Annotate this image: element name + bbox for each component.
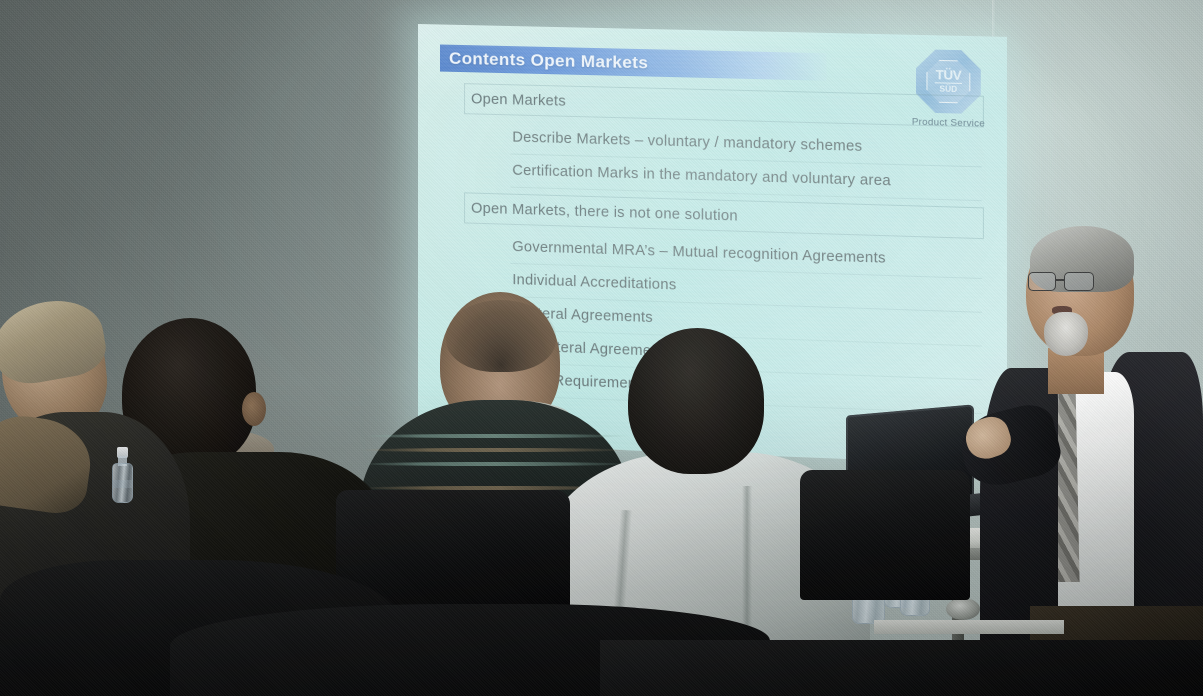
conference-room-scene: Contents Open Markets TÜV SÜD Product Se… — [0, 0, 1203, 696]
scene-vignette — [0, 0, 1203, 696]
